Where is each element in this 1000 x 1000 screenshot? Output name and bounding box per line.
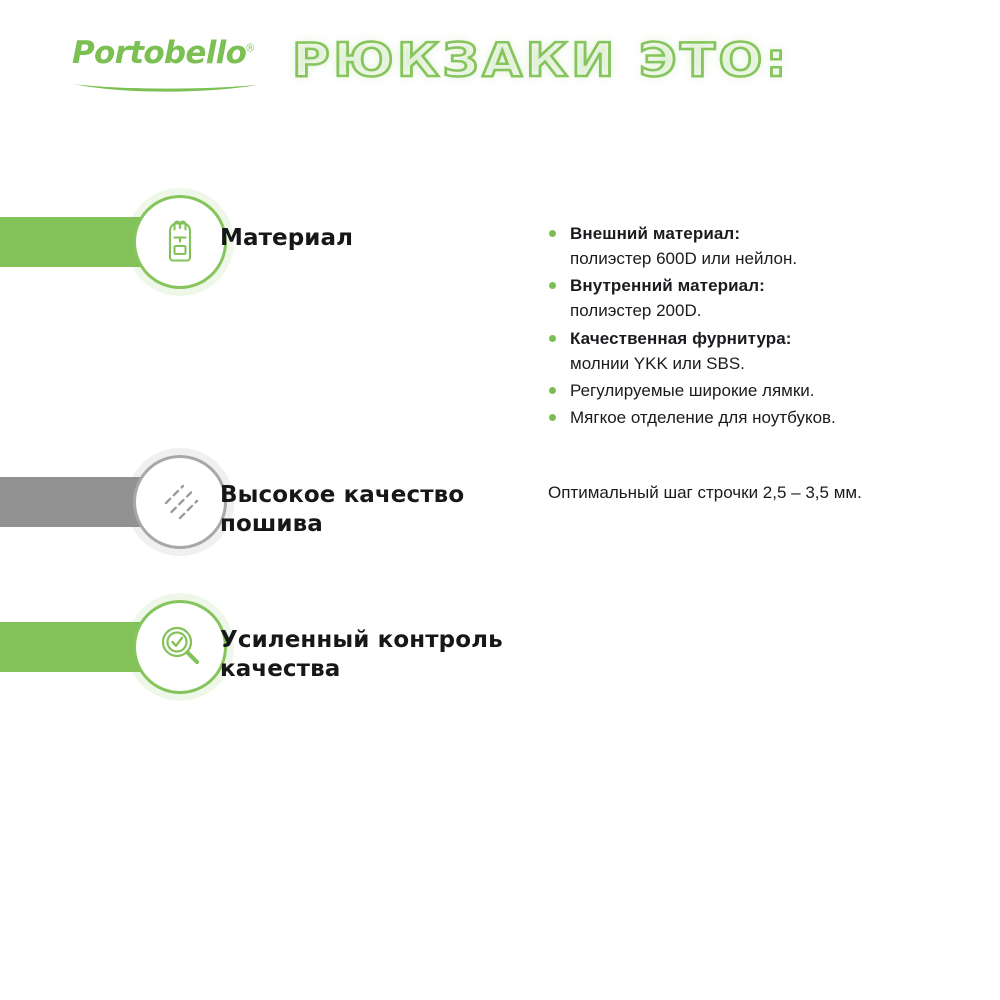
brand-logo-text: Portobello® [72,38,254,69]
list-item-title: Качественная фурнитура: [570,326,968,351]
list-item-text: Мягкое отделение для ноутбуков. [570,408,836,427]
list-item: Внешний материал: полиэстер 600D или ней… [548,221,968,271]
page-title: РЮКЗАКИ ЭТО: [292,36,790,84]
list-item: Внутренний материал: полиэстер 200D. [548,273,968,323]
feature-row-quality-control: Усиленный контроль качества [0,600,1000,710]
stitching-icon [153,475,207,529]
feature-row-stitch-quality: Высокое качество пошива Оптимальный шаг … [0,455,1000,565]
magnifier-check-icon [153,620,207,674]
material-bullet-list: Внешний материал: полиэстер 600D или ней… [548,221,968,432]
icon-badge-material [133,195,227,289]
list-item: Качественная фурнитура: молнии YKK или S… [548,326,968,376]
row-heading-stitch-quality: Высокое качество пошива [220,481,520,539]
registered-trademark-icon: ® [246,43,254,55]
backpack-icon [153,215,207,269]
row-heading-quality-control: Усиленный контроль качества [220,626,520,684]
brand-logo-swoosh-icon [72,82,258,95]
list-item-note: полиэстер 600D или нейлон. [570,246,968,271]
icon-badge-stitch-quality [133,455,227,549]
row-heading-material: Материал [220,224,520,253]
list-item-title: Внутренний материал: [570,273,968,298]
list-item: Регулируемые широкие лямки. [548,378,968,403]
page-header: Portobello® РЮКЗАКИ ЭТО: [0,0,1000,140]
list-item-note: молнии YKK или SBS. [570,351,968,376]
list-item-note: полиэстер 200D. [570,298,968,323]
brand-logo-wordmark: Portobello [72,35,246,71]
icon-badge-quality-control [133,600,227,694]
brand-logo: Portobello® [72,38,262,69]
list-item-title: Внешний материал: [570,221,968,246]
list-item-text: Регулируемые широкие лямки. [570,381,815,400]
stitch-quality-description: Оптимальный шаг строчки 2,5 – 3,5 мм. [548,480,968,506]
list-item: Мягкое отделение для ноутбуков. [548,405,968,430]
feature-row-material: Материал Внешний материал: полиэстер 600… [0,195,1000,425]
